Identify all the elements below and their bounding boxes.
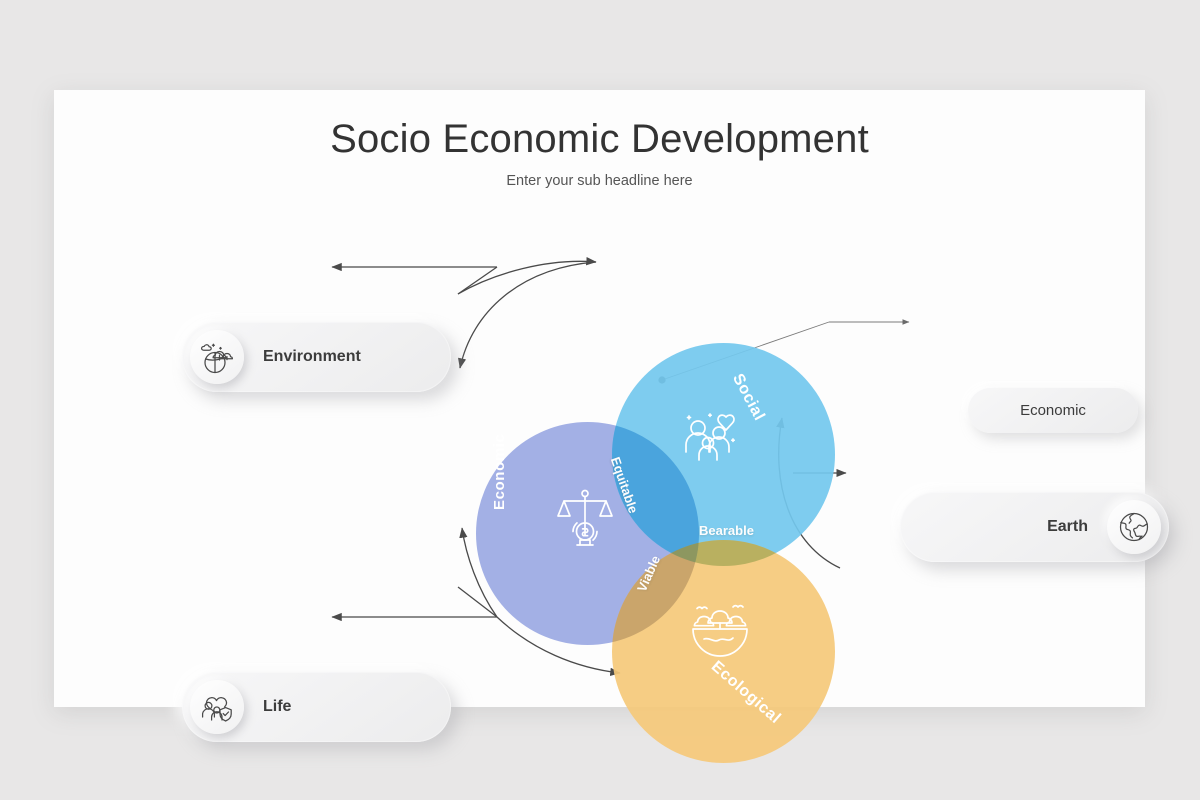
- globe-icon: [1107, 500, 1161, 554]
- scales-dollar-icon: [555, 487, 615, 554]
- people-heart-icon: [681, 408, 745, 469]
- callout-life[interactable]: Life: [182, 672, 451, 742]
- slide-card: Socio Economic Development Enter your su…: [54, 90, 1145, 707]
- family-shield-icon: [190, 680, 244, 734]
- callout-environment-label: Environment: [263, 348, 361, 366]
- slide-canvas: Socio Economic Development Enter your su…: [0, 0, 1200, 800]
- callout-economic[interactable]: Economic: [968, 388, 1138, 433]
- callout-economic-label: Economic: [1020, 402, 1086, 419]
- callout-earth[interactable]: Earth: [900, 492, 1169, 562]
- callout-life-label: Life: [263, 698, 291, 716]
- venn-label-economic: Economic: [491, 434, 508, 510]
- venn-diagram: Economic Social Ecological Equitable Bea…: [419, 240, 839, 670]
- forest-globe-icon: [691, 603, 749, 662]
- callout-earth-label: Earth: [1047, 518, 1088, 536]
- callout-environment[interactable]: Environment: [182, 322, 451, 392]
- venn-overlap-layer: [419, 240, 839, 670]
- globe-trees-icon: [190, 330, 244, 384]
- venn-overlap-label-bearable: Bearable: [699, 523, 754, 538]
